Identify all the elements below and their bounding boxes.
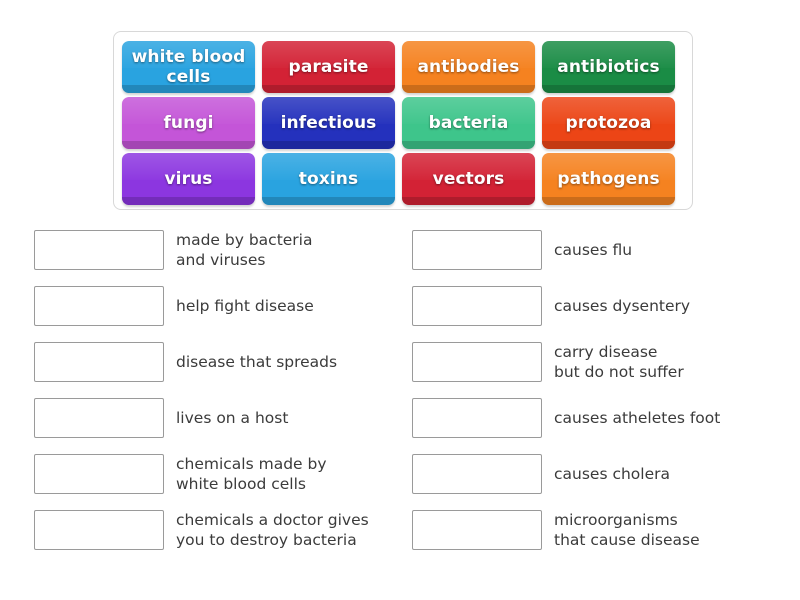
tile-toxins[interactable]: toxins bbox=[262, 153, 395, 205]
tile-parasite[interactable]: parasite bbox=[262, 41, 395, 93]
tile-row: virus toxins vectors pathogens bbox=[122, 153, 684, 205]
tile-label: antibiotics bbox=[553, 57, 663, 77]
tile-bacteria[interactable]: bacteria bbox=[402, 97, 535, 149]
answer-row: help fight disease bbox=[34, 278, 404, 334]
drop-box-causes-atheletes-foot[interactable] bbox=[412, 398, 542, 438]
drop-box-causes-cholera[interactable] bbox=[412, 454, 542, 494]
tile-label: antibodies bbox=[413, 57, 523, 77]
drop-box-causes-flu[interactable] bbox=[412, 230, 542, 270]
answer-row: causes atheletes foot bbox=[412, 390, 782, 446]
tile-fungi[interactable]: fungi bbox=[122, 97, 255, 149]
tile-white-blood-cells[interactable]: white blood cells bbox=[122, 41, 255, 93]
tile-infectious[interactable]: infectious bbox=[262, 97, 395, 149]
tile-label: white blood cells bbox=[122, 47, 255, 87]
drop-box-chemicals-made-by-white-blood-cells[interactable] bbox=[34, 454, 164, 494]
drop-box-help-fight-disease[interactable] bbox=[34, 286, 164, 326]
tile-antibiotics[interactable]: antibiotics bbox=[542, 41, 675, 93]
drop-box-lives-on-a-host[interactable] bbox=[34, 398, 164, 438]
answer-label: microorganisms that cause disease bbox=[554, 510, 700, 550]
answer-label: made by bacteria and viruses bbox=[176, 230, 313, 270]
answer-label: carry disease but do not suffer bbox=[554, 342, 684, 382]
drop-box-microorganisms-that-cause-disease[interactable] bbox=[412, 510, 542, 550]
answer-label: causes cholera bbox=[554, 464, 670, 484]
answer-label: chemicals a doctor gives you to destroy … bbox=[176, 510, 369, 550]
tile-label: parasite bbox=[285, 57, 373, 77]
tile-row: fungi infectious bacteria protozoa bbox=[122, 97, 684, 149]
answer-row: carry disease but do not suffer bbox=[412, 334, 782, 390]
tile-virus[interactable]: virus bbox=[122, 153, 255, 205]
answer-row: disease that spreads bbox=[34, 334, 404, 390]
tile-antibodies[interactable]: antibodies bbox=[402, 41, 535, 93]
answer-label: disease that spreads bbox=[176, 352, 337, 372]
tile-label: infectious bbox=[277, 113, 381, 133]
answer-row: microorganisms that cause disease bbox=[412, 502, 782, 558]
tile-label: pathogens bbox=[553, 169, 663, 189]
drop-box-carry-disease-but-do-not-suffer[interactable] bbox=[412, 342, 542, 382]
drop-box-made-by-bacteria-and-viruses[interactable] bbox=[34, 230, 164, 270]
answer-column-right: causes flu causes dysentery carry diseas… bbox=[412, 222, 782, 558]
answer-label: lives on a host bbox=[176, 408, 288, 428]
tile-label: toxins bbox=[295, 169, 362, 189]
tile-vectors[interactable]: vectors bbox=[402, 153, 535, 205]
answer-row: causes cholera bbox=[412, 446, 782, 502]
tile-label: protozoa bbox=[562, 113, 656, 133]
answer-row: chemicals made by white blood cells bbox=[34, 446, 404, 502]
word-tile-bank: white blood cells parasite antibodies an… bbox=[113, 31, 693, 210]
tile-row: white blood cells parasite antibodies an… bbox=[122, 41, 684, 93]
drop-box-chemicals-a-doctor-gives-you-to-destroy-bacteria[interactable] bbox=[34, 510, 164, 550]
tile-label: virus bbox=[160, 169, 216, 189]
tile-protozoa[interactable]: protozoa bbox=[542, 97, 675, 149]
answer-column-left: made by bacteria and viruses help fight … bbox=[34, 222, 404, 558]
drop-box-disease-that-spreads[interactable] bbox=[34, 342, 164, 382]
tile-label: vectors bbox=[429, 169, 509, 189]
answer-label: help fight disease bbox=[176, 296, 314, 316]
answer-row: causes flu bbox=[412, 222, 782, 278]
answer-label: chemicals made by white blood cells bbox=[176, 454, 327, 494]
answer-row: lives on a host bbox=[34, 390, 404, 446]
answer-label: causes flu bbox=[554, 240, 632, 260]
answer-row: chemicals a doctor gives you to destroy … bbox=[34, 502, 404, 558]
tile-pathogens[interactable]: pathogens bbox=[542, 153, 675, 205]
answer-label: causes dysentery bbox=[554, 296, 690, 316]
answer-row: made by bacteria and viruses bbox=[34, 222, 404, 278]
answer-label: causes atheletes foot bbox=[554, 408, 720, 428]
answer-row: causes dysentery bbox=[412, 278, 782, 334]
drop-box-causes-dysentery[interactable] bbox=[412, 286, 542, 326]
tile-label: bacteria bbox=[425, 113, 513, 133]
tile-label: fungi bbox=[159, 113, 217, 133]
